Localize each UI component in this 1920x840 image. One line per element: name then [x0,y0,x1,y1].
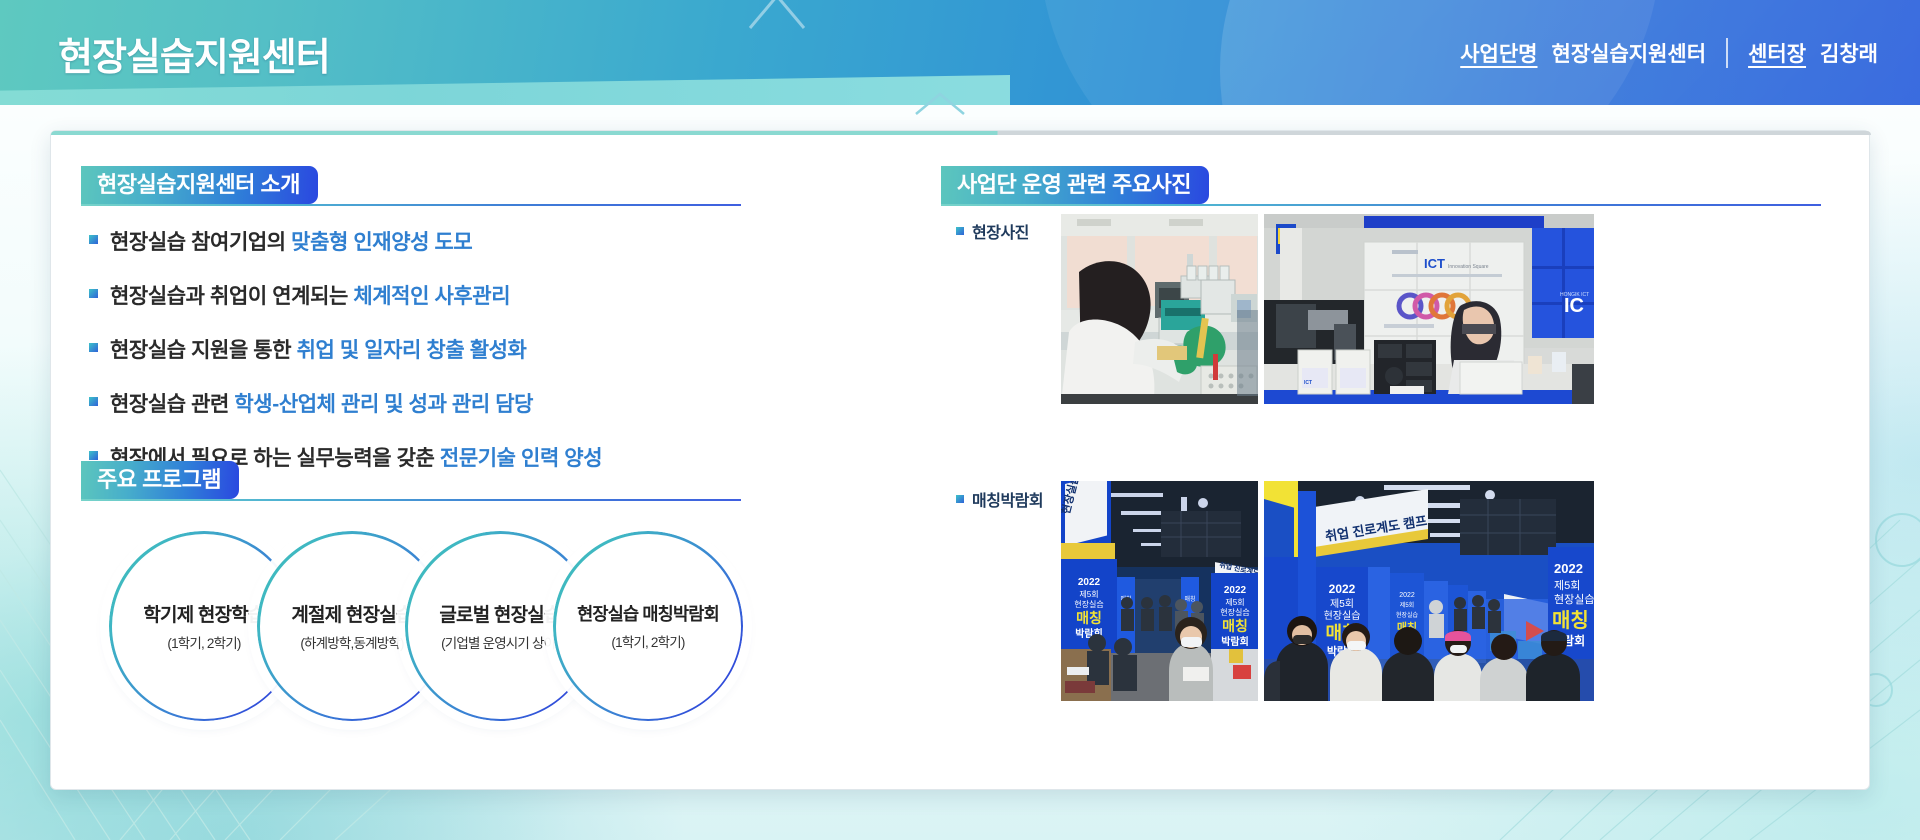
svg-text:제5회: 제5회 [1330,598,1354,610]
svg-text:2022: 2022 [1399,592,1415,599]
photo-fair-crowd[interactable]: 취업 진로계도 캠프 2022 제5회 현장실습 매칭 박람회 2022제5회 … [1264,481,1594,701]
program-circle-group: 학기제 현장학습 (1학기, 2학기) 계절제 현장실습 (하계방학,동계방학)… [109,531,749,731]
bullet-square-icon [956,227,964,235]
bullet-square-icon [89,235,98,244]
content-card: 현장실습지원센터 소개 현장실습 참여기업의 맞춤형 인재양성 도모 현장실습과… [50,130,1870,790]
program-subtitle: (하계방학,동계방학) [300,632,403,652]
svg-text:HONGIK ICT: HONGIK ICT [1560,292,1589,298]
bullet-text-highlight: 맞춤형 인재양성 도모 [291,231,472,254]
bullet-text-highlight: 학생-산업체 관리 및 성과 관리 담당 [234,393,533,416]
bullet-text-highlight: 취업 및 일자리 창출 활성화 [297,339,527,362]
card-top-accent [51,131,1871,135]
photo-group-label-fair: 매칭박람회 [956,487,1043,511]
list-item: 현장실습 관련 학생-산업체 관리 및 성과 관리 담당 [89,388,729,418]
bullet-text-plain: 현장실습 지원을 통한 [110,339,297,362]
section-photo-heading: 사업단 운영 관련 주요사진 [941,166,1821,204]
program-title: 현장실습 매칭박람회 [577,601,719,626]
program-circle-4[interactable]: 현장실습 매칭박람회 (1학기, 2학기) [553,531,743,721]
program-subtitle: (1학기, 2학기) [611,631,684,651]
section-intro-rule [81,204,741,206]
svg-text:제5회: 제5회 [1225,598,1244,607]
photo-group-label-text: 매칭박람회 [972,487,1043,511]
svg-text:매칭: 매칭 [1076,610,1102,626]
svg-text:매칭: 매칭 [1222,618,1248,634]
bullet-square-icon [956,495,964,503]
header-meta-value-director: 김창래 [1820,38,1878,68]
section-photo-title: 사업단 운영 관련 주요사진 [941,166,1209,204]
svg-text:제5회: 제5회 [1079,590,1098,599]
bullet-square-icon [89,451,98,460]
header-meta-separator [1726,38,1728,68]
photo-group-label-site: 현장사진 [956,219,1029,243]
section-program-rule [81,499,741,501]
header-meta-label-director: 센터장 [1748,38,1806,68]
svg-text:매칭: 매칭 [1552,609,1589,632]
photo-fair-corridor[interactable]: 현장실습 2022 제5회 현장실습 매칭 박람회 취업 진로계도 2022 제… [1061,481,1258,701]
svg-text:2022: 2022 [1078,577,1101,588]
photo-group-label-text: 현장사진 [972,219,1029,243]
program-subtitle: (1학기, 2학기) [167,632,240,652]
section-intro-title: 현장실습지원센터 소개 [81,166,318,204]
svg-text:박람회: 박람회 [1221,635,1249,648]
svg-text:현장실습: 현장실습 [1554,593,1594,606]
header-meta-label-org: 사업단명 [1460,38,1537,68]
bullet-text-highlight: 체계적인 사후관리 [353,285,510,308]
svg-text:ICT: ICT [1424,256,1445,271]
bullet-square-icon [89,289,98,298]
svg-text:Innovation Square: Innovation Square [1448,264,1489,270]
bullet-square-icon [89,397,98,406]
section-program-heading: 주요 프로그램 [81,461,741,499]
photo-lab-experiment[interactable] [1061,214,1258,404]
svg-text:2022: 2022 [1329,582,1356,596]
svg-text:2022: 2022 [1224,585,1247,596]
program-title: 학기제 현장학습 [143,600,264,627]
chevron-up-icon-secondary [910,86,970,122]
svg-text:제5회: 제5회 [1400,601,1414,609]
section-photo-rule [941,204,1821,206]
svg-text:제5회: 제5회 [1554,579,1580,592]
page-title: 현장실습지원센터 [58,26,330,81]
section-intro-heading: 현장실습지원센터 소개 [81,166,741,204]
list-item: 현장실습 지원을 통한 취업 및 일자리 창출 활성화 [89,334,729,364]
photo-ict-booth[interactable]: ICT Innovation Square gaon IC HONGIK ICT [1264,214,1594,404]
svg-text:현장실습: 현장실습 [1324,610,1361,622]
header-meta-value-org: 현장실습지원센터 [1552,38,1707,68]
list-item: 현장실습 참여기업의 맞춤형 인재양성 도모 [89,226,729,256]
bullet-square-icon [89,343,98,352]
intro-bullet-list: 현장실습 참여기업의 맞춤형 인재양성 도모 현장실습과 취업이 연계되는 체계… [89,226,729,496]
svg-text:현장실습: 현장실습 [1220,607,1249,617]
program-title: 계절제 현장실습 [291,600,412,627]
program-subtitle: (기업별 운영시기 상이) [441,632,559,652]
svg-text:매칭: 매칭 [1184,595,1195,603]
program-title: 글로벌 현장실습 [439,600,560,627]
header-meta: 사업단명 현장실습지원센터 센터장 김창래 [1460,38,1878,68]
list-item: 현장실습과 취업이 연계되는 체계적인 사후관리 [89,280,729,310]
svg-text:현장실습: 현장실습 [1396,611,1419,619]
bullet-text-plain: 현장실습과 취업이 연계되는 [110,285,353,308]
svg-text:IC: IC [1564,295,1584,317]
bullet-text-plain: 현장실습 참여기업의 [110,231,291,254]
svg-text:현장실습: 현장실습 [1074,599,1103,609]
svg-text:ICT: ICT [1304,380,1312,386]
bullet-text-plain: 현장실습 관련 [110,393,234,416]
svg-text:2022: 2022 [1554,561,1583,576]
chevron-up-icon [742,0,812,42]
section-program-title: 주요 프로그램 [81,461,239,499]
